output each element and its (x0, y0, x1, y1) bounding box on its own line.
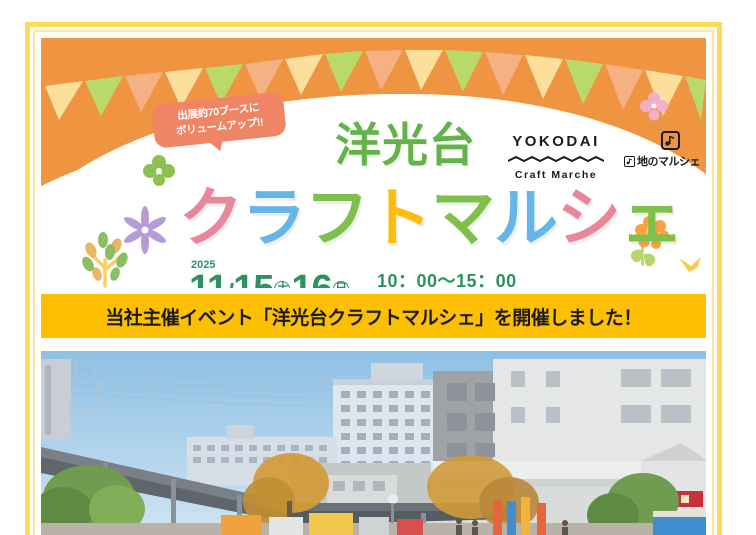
event-dow-2: 日 (333, 281, 349, 288)
announcement-band: 当社主催イベント「洋光台クラフトマルシェ」を開催しました！ (41, 294, 706, 338)
green-flower-icon (143, 155, 175, 186)
wave-divider-icon (508, 155, 604, 163)
announcement-text: 当社主催イベント「洋光台クラフトマルシェ」を開催しました！ (105, 303, 642, 330)
event-time: 10：00〜15：00 (377, 270, 636, 288)
title-char-6: シ (557, 182, 620, 254)
event-photo (41, 351, 706, 535)
purple-flower-icon (122, 206, 168, 254)
photo-illustration (41, 351, 706, 535)
chi-no-marche-logo: 地のマルシェ (624, 131, 706, 169)
event-time-place: 10：00〜15：00 洋光台中央団地 中央広場/駅前広場 (377, 270, 636, 288)
poster-page: 出展約70ブースに ボリュームアップ!! 洋光台 YOKODAI Craft M… (0, 0, 756, 535)
tree-icon (80, 232, 130, 286)
bird-icon (679, 257, 701, 272)
event-day-2: 16 (291, 268, 331, 288)
title-char-1: ラ (242, 182, 305, 254)
title-char-0: ク (179, 182, 242, 254)
event-dow-1: 土 (274, 281, 290, 288)
event-location-name: 洋光台 (335, 122, 476, 168)
event-date: 2025 11/15土16日 (189, 270, 350, 288)
logo-text-row: 地のマルシェ (624, 153, 706, 169)
yokodai-craft-marche-logo: YOKODAI Craft Marche (508, 134, 604, 181)
pink-flower-icon (640, 92, 668, 121)
title-char-7: ェ (620, 182, 683, 254)
mini-badge-icon (624, 156, 635, 167)
title-char-2: フ (305, 182, 368, 254)
logo-label-chi-no-marche: 地のマルシェ (637, 153, 700, 169)
event-year: 2025 (191, 260, 215, 271)
title-char-4: マ (431, 182, 494, 254)
event-month: 11 (189, 268, 227, 288)
logo-line-craft-marche: Craft Marche (508, 169, 604, 181)
logo-line-yokodai: YOKODAI (508, 134, 604, 151)
event-title: クラフトマルシェ (179, 186, 683, 250)
event-hero-banner: 出展約70ブースに ボリュームアップ!! 洋光台 YOKODAI Craft M… (41, 38, 706, 288)
event-month-days: 11/15土16日 (189, 268, 350, 288)
logo-badge-icon (661, 131, 680, 150)
title-char-5: ル (494, 182, 557, 254)
music-note-icon (664, 135, 676, 147)
event-day-1: 15 (233, 268, 273, 288)
title-char-3: ト (368, 182, 431, 254)
